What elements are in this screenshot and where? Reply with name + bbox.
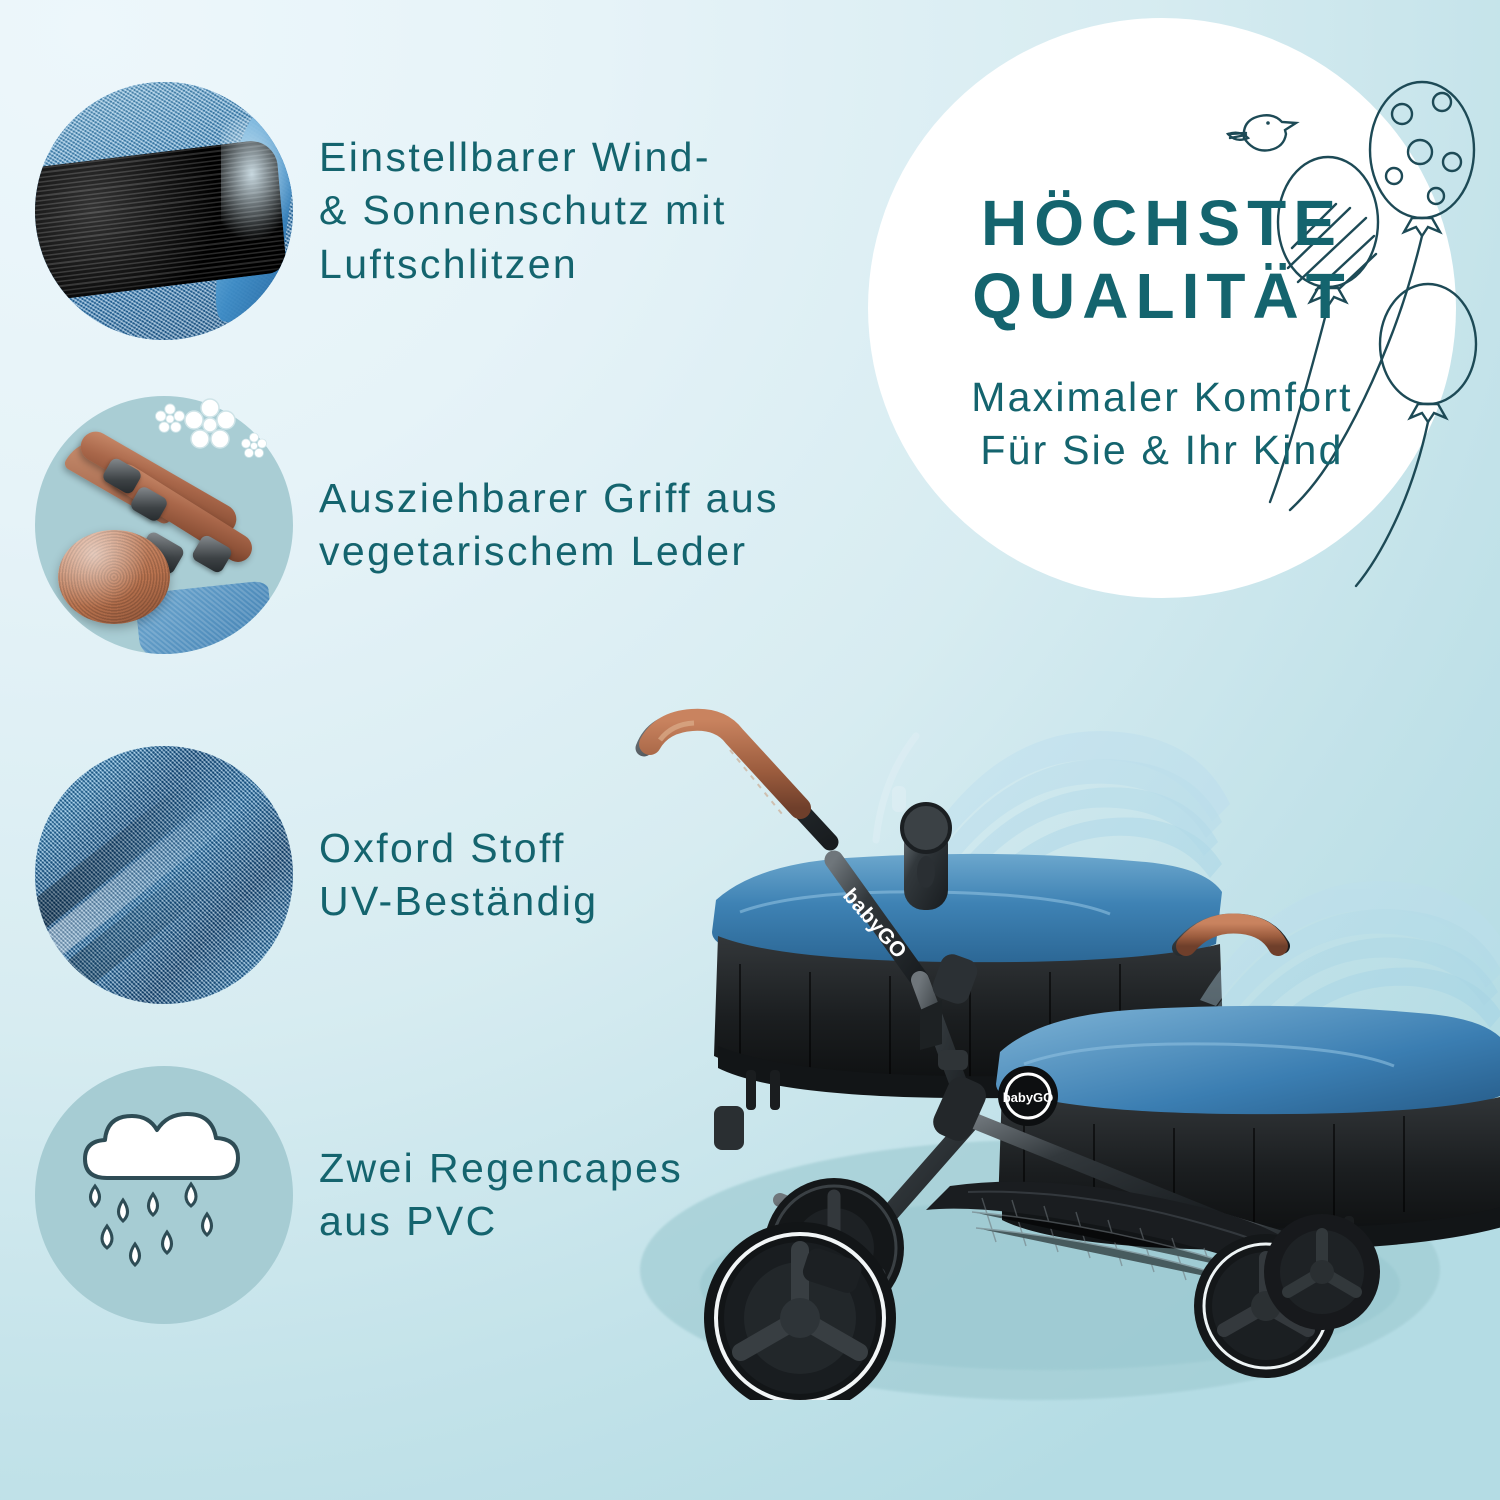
feature-item-ventilation: Einstellbarer Wind- & Sonnenschutz mit L… xyxy=(35,82,915,340)
oxford-fabric-photo xyxy=(35,746,293,1004)
infographic-stage: Einstellbarer Wind- & Sonnenschutz mit L… xyxy=(0,0,1500,1500)
rain-cloud-icon xyxy=(35,1066,293,1324)
feature-label: Einstellbarer Wind- & Sonnenschutz mit L… xyxy=(319,131,727,291)
feature-thumb-wrap xyxy=(35,396,293,654)
feature-label: Oxford Stoff UV-Beständig xyxy=(319,822,599,929)
feature-label: Ausziehbarer Griff aus vegetarischem Led… xyxy=(319,472,779,579)
twin-tandem-stroller: babyGO babyGO xyxy=(620,600,1500,1405)
mesh-ventilation-photo xyxy=(35,82,293,340)
flower-doodle-icon xyxy=(148,391,278,481)
feature-thumb-wrap xyxy=(35,1066,293,1324)
feature-thumb-wrap xyxy=(35,746,293,1004)
badge-title: HÖCHSTE QUALITÄT xyxy=(972,187,1352,333)
badge-subtitle: Maximaler Komfort Für Sie & Ihr Kind xyxy=(971,371,1352,478)
quality-badge-text: HÖCHSTE QUALITÄT Maximaler Komfort Für S… xyxy=(868,18,1456,598)
feature-thumb-wrap xyxy=(35,82,293,340)
